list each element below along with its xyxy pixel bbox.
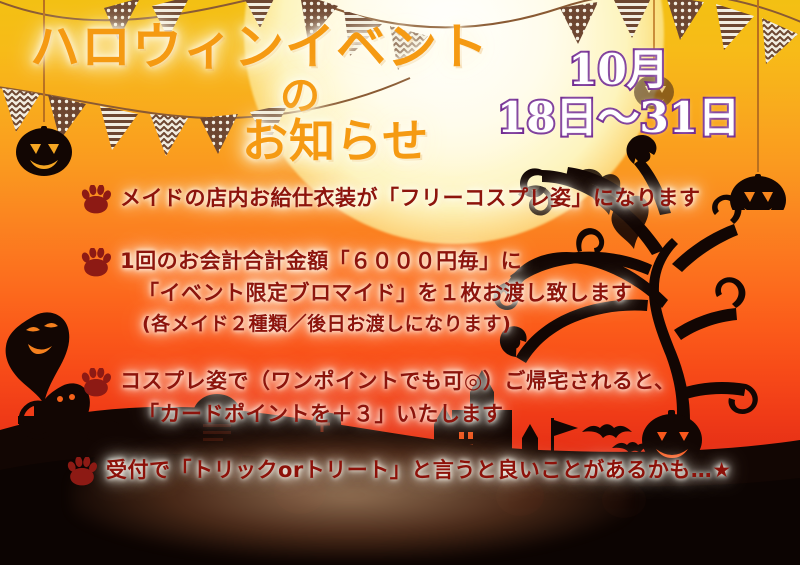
detail-line: コスプレ姿で（ワンポイントでも可◎）ご帰宅されると、: [120, 365, 800, 398]
bunting-flag: [762, 18, 798, 64]
detail-line: メイドの店内お給仕衣装が「フリーコスプレ姿」になります: [120, 182, 800, 215]
list-item-text: 受付で「トリックorトリート」と言うと良いことがあるかも…★: [106, 454, 800, 487]
bunting-flag: [666, 0, 704, 40]
poster-title: ハロウィンイベント の お知らせ: [30, 22, 550, 164]
detail-line: 1回のお会計合計金額「６０００円毎」に: [120, 245, 800, 278]
halloween-event-poster: ハロウィンイベント の お知らせ 10月 18日〜31日 メイドの店内お給仕衣装…: [0, 0, 800, 565]
paw-print-icon: [66, 457, 98, 487]
detail-line: 受付で「トリックorトリート」と言うと良いことがあるかも…★: [106, 454, 800, 487]
event-date-badge: 10月 18日〜31日: [497, 48, 740, 140]
bunting-flag: [716, 4, 754, 50]
bunting-flag: [614, 0, 652, 38]
list-item: 1回のお会計合計金額「６０００円毎」に 「イベント限定ブロマイド」を１枚お渡し致…: [0, 245, 800, 340]
list-item: コスプレ姿で（ワンポイントでも可◎）ご帰宅されると、 「カードポイントを＋３」い…: [0, 365, 800, 430]
title-line-main: ハロウィンイベント: [30, 22, 550, 72]
detail-line: (各メイド２種類／後日お渡しになります): [142, 310, 800, 339]
detail-line: 「カードポイントを＋３」いたします: [138, 398, 800, 431]
event-month: 10月: [497, 48, 740, 92]
list-item-text: コスプレ姿で（ワンポイントでも可◎）ご帰宅されると、 「カードポイントを＋３」い…: [120, 365, 800, 430]
paw-print-icon: [80, 185, 112, 215]
event-day-range: 18日〜31日: [497, 96, 740, 140]
event-details-list: メイドの店内お給仕衣装が「フリーコスプレ姿」になります 1回のお会計合計金額「６…: [0, 182, 800, 501]
list-item-text: メイドの店内お給仕衣装が「フリーコスプレ姿」になります: [120, 182, 800, 215]
list-item-text: 1回のお会計合計金額「６０００円毎」に 「イベント限定ブロマイド」を１枚お渡し致…: [120, 245, 800, 340]
paw-print-icon: [80, 368, 112, 398]
list-item: 受付で「トリックorトリート」と言うと良いことがあるかも…★: [0, 454, 800, 487]
paw-print-icon: [80, 248, 112, 278]
detail-line: 「イベント限定ブロマイド」を１枚お渡し致します: [138, 277, 800, 310]
list-item: メイドの店内お給仕衣装が「フリーコスプレ姿」になります: [0, 182, 800, 215]
bunting-flag: [560, 2, 598, 44]
